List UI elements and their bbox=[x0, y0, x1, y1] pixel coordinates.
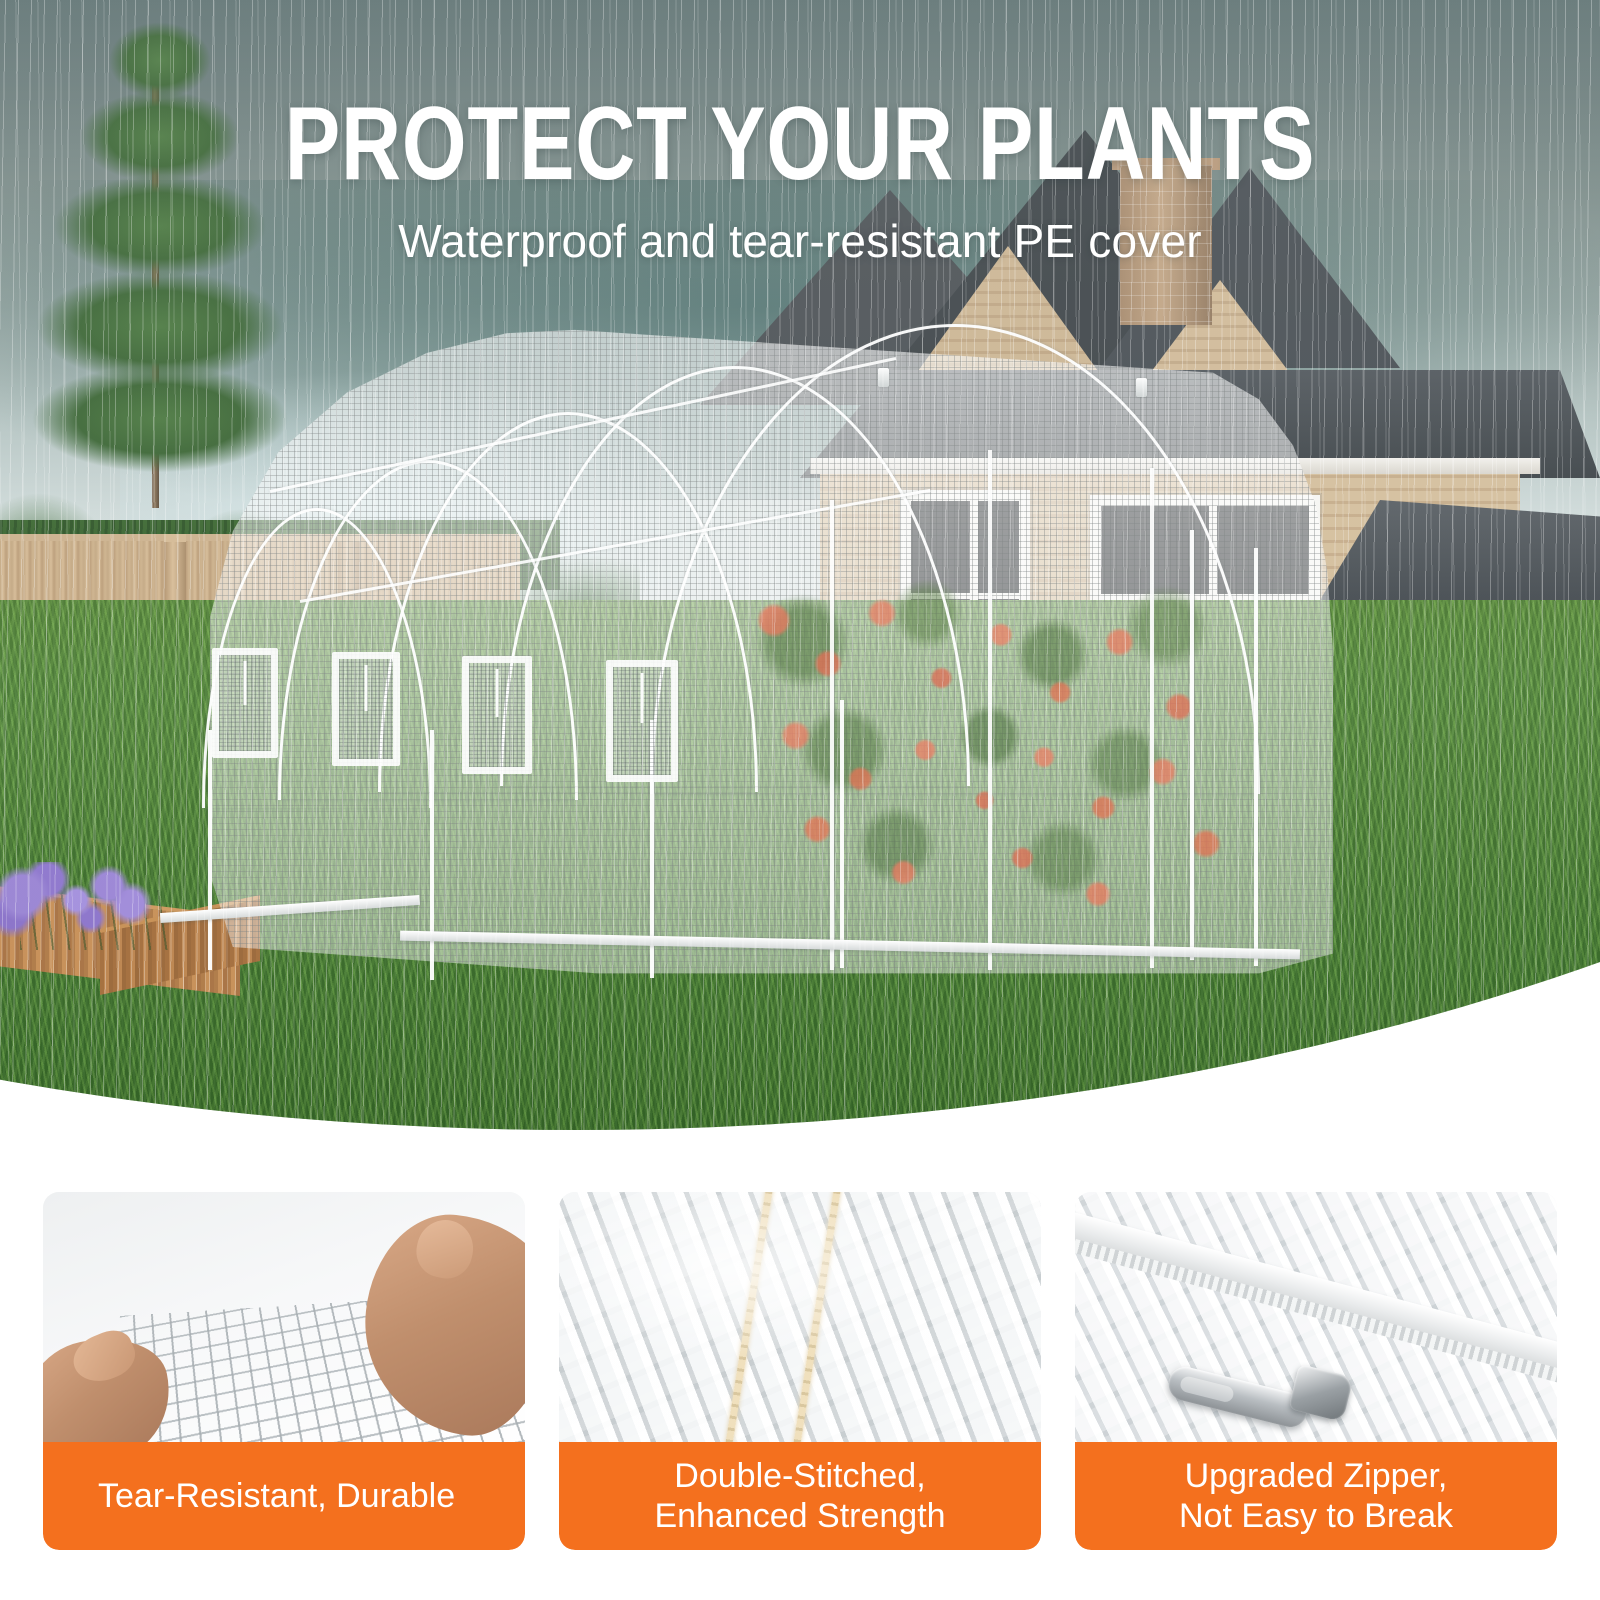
feature-caption: Tear-Resistant, Durable bbox=[43, 1442, 525, 1550]
feature-caption-line: Enhanced Strength bbox=[654, 1496, 945, 1536]
tunnel-greenhouse bbox=[150, 300, 1350, 980]
feature-card-tear-resistant[interactable]: Tear-Resistant, Durable bbox=[43, 1192, 525, 1550]
feature-card-double-stitched[interactable]: Double-Stitched, Enhanced Strength bbox=[559, 1192, 1041, 1550]
page-subtitle: Waterproof and tear-resistant PE cover bbox=[0, 216, 1600, 267]
vent-zipper[interactable] bbox=[244, 661, 247, 705]
feature-image-stitch-detail bbox=[559, 1192, 1041, 1450]
feature-caption: Upgraded Zipper, Not Easy to Break bbox=[1075, 1442, 1557, 1550]
greenhouse-upright-post bbox=[430, 730, 434, 980]
feature-card-upgraded-zipper[interactable]: Upgraded Zipper, Not Easy to Break bbox=[1075, 1192, 1557, 1550]
feature-caption-line: Not Easy to Break bbox=[1179, 1496, 1453, 1536]
image-gloss-highlight bbox=[559, 1192, 1041, 1450]
greenhouse-upright-post bbox=[208, 730, 212, 970]
hero-banner: PROTECT YOUR PLANTS Waterproof and tear-… bbox=[0, 0, 1600, 1130]
door-zipper-seam[interactable] bbox=[830, 500, 834, 970]
greenhouse-upright-post bbox=[840, 700, 844, 968]
feature-caption-line: Tear-Resistant, Durable bbox=[98, 1476, 455, 1516]
feature-image-zipper-detail bbox=[1075, 1192, 1557, 1450]
feature-image-stretch-test bbox=[43, 1192, 525, 1450]
vent-zipper[interactable] bbox=[641, 673, 644, 723]
feature-caption-line: Double-Stitched, bbox=[654, 1456, 945, 1496]
roll-up-vent-window[interactable] bbox=[462, 656, 532, 774]
feature-caption: Double-Stitched, Enhanced Strength bbox=[559, 1442, 1041, 1550]
vent-zipper[interactable] bbox=[496, 669, 499, 717]
feature-caption-line: Upgraded Zipper, bbox=[1179, 1456, 1453, 1496]
greenhouse-upright-post bbox=[1254, 548, 1258, 966]
roll-up-vent-window[interactable] bbox=[606, 660, 678, 782]
door-zipper-seam[interactable] bbox=[1150, 468, 1154, 968]
greenhouse-upright-post bbox=[1190, 530, 1194, 960]
cover-clip bbox=[1136, 378, 1147, 397]
roll-up-vent-window[interactable] bbox=[332, 652, 400, 766]
roll-up-vent-window[interactable] bbox=[212, 648, 278, 758]
cover-clip bbox=[878, 368, 889, 387]
page-title: PROTECT YOUR PLANTS bbox=[160, 92, 1440, 196]
purple-flowers bbox=[0, 862, 170, 942]
vent-zipper[interactable] bbox=[365, 665, 368, 711]
door-zipper-seam[interactable] bbox=[988, 450, 992, 970]
feature-cards: Tear-Resistant, Durable Double-Stitched,… bbox=[43, 1192, 1557, 1550]
